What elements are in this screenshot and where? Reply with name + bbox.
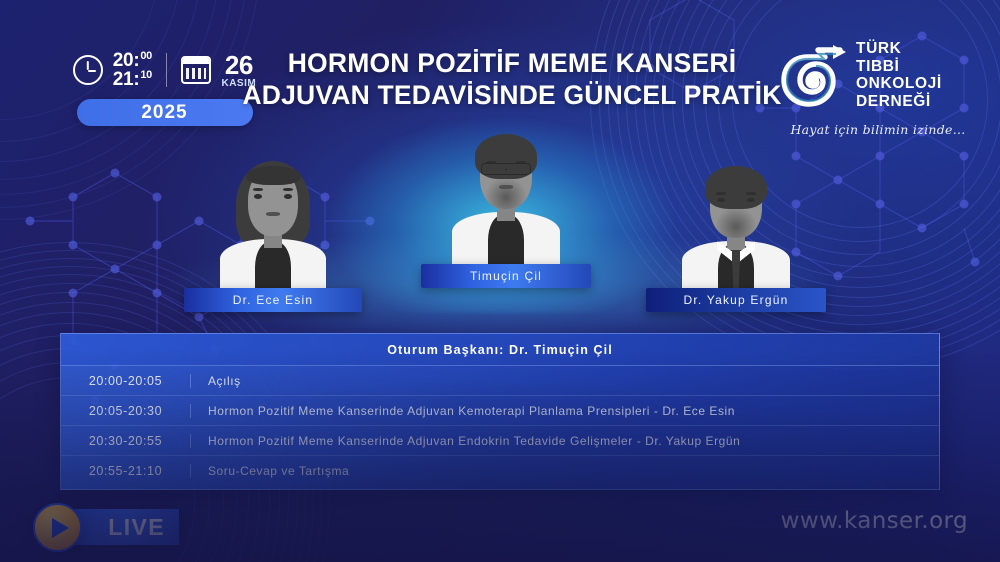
calendar-icon xyxy=(181,56,211,84)
logo-line-1: TÜRK xyxy=(856,40,942,58)
play-icon[interactable] xyxy=(33,503,82,552)
broadcast-poster: 20:00 21:10 26 KASIM 2025 HORMON POZİTİF… xyxy=(0,0,1000,562)
row-subject: Hormon Pozitif Meme Kanserinde Adjuvan K… xyxy=(191,404,735,418)
table-row: 20:55-21:10 Soru-Cevap ve Tartışma xyxy=(61,456,939,486)
row-time: 20:55-21:10 xyxy=(61,464,191,478)
logo-tagline: Hayat için bilimin izinde... xyxy=(780,122,976,137)
speaker-photo-left xyxy=(218,155,328,305)
logo-line-2: TIBBİ xyxy=(856,58,942,76)
page-title: HORMON POZİTİF MEME KANSERİ ADJUVAN TEDA… xyxy=(234,48,790,112)
time-end-minutes: 10 xyxy=(140,70,152,81)
row-subject: Soru-Cevap ve Tartışma xyxy=(191,464,349,478)
row-subject: Açılış xyxy=(191,374,241,388)
clock-icon xyxy=(73,55,103,85)
speaker-name-right: Dr. Yakup Ergün xyxy=(646,288,826,312)
speaker-card-right: Dr. Yakup Ergün xyxy=(680,160,792,305)
speaker-card-center: Timuçin Çil xyxy=(450,128,562,278)
speaker-name-center: Timuçin Çil xyxy=(421,264,591,288)
speaker-name-left: Dr. Ece Esin xyxy=(184,288,362,312)
website-url[interactable]: www.kanser.org xyxy=(781,508,968,534)
table-row: 20:00-20:05 Açılış xyxy=(61,366,939,396)
logo-wordmark: TÜRK TIBBİ ONKOLOJİ DERNEĞİ xyxy=(856,40,942,110)
table-row: 20:30-20:55 Hormon Pozitif Meme Kanserin… xyxy=(61,426,939,456)
time-start: 20: xyxy=(113,51,140,70)
table-row: 20:05-20:30 Hormon Pozitif Meme Kanserin… xyxy=(61,396,939,426)
row-time: 20:30-20:55 xyxy=(61,434,191,448)
speaker-photo-right xyxy=(680,160,792,305)
live-badge[interactable]: LIVE xyxy=(33,503,183,551)
organization-logo: TÜRK TIBBİ ONKOLOJİ DERNEĞİ Hayat için b… xyxy=(772,32,980,140)
program-panel: Oturum Başkanı: Dr. Timuçin Çil 20:00-20… xyxy=(60,333,940,490)
year-badge: 2025 xyxy=(77,99,253,126)
speaker-card-left: Dr. Ece Esin xyxy=(218,155,328,305)
row-time: 20:00-20:05 xyxy=(61,374,191,388)
row-subject: Hormon Pozitif Meme Kanserinde Adjuvan E… xyxy=(191,434,740,448)
tmod-swirl-logo-icon xyxy=(778,40,852,114)
speaker-photo-center xyxy=(450,128,562,278)
row-time: 20:05-20:30 xyxy=(61,404,191,418)
logo-line-3: ONKOLOJİ xyxy=(856,75,942,93)
time-start-minutes: 00 xyxy=(140,51,152,62)
divider xyxy=(166,53,168,87)
logo-line-4: DERNEĞİ xyxy=(856,93,942,111)
title-line-2: ADJUVAN TEDAVİSİNDE GÜNCEL PRATİK xyxy=(234,80,790,112)
session-chair: Oturum Başkanı: Dr. Timuçin Çil xyxy=(61,334,939,366)
session-times: 20:00 21:10 xyxy=(113,51,152,90)
time-end: 21: xyxy=(113,70,140,89)
title-line-1: HORMON POZİTİF MEME KANSERİ xyxy=(234,48,790,80)
